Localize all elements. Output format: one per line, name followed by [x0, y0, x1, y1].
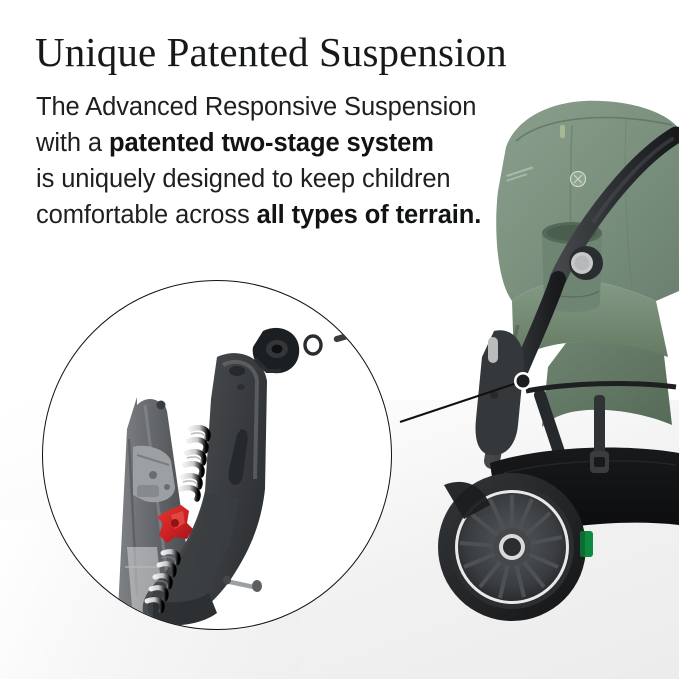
- arm-bolt: [223, 576, 262, 593]
- suspension-detail-inset: [42, 280, 392, 630]
- callout-dot: [517, 375, 530, 388]
- page-title: Unique Patented Suspension: [35, 28, 635, 77]
- washer-ring: [305, 336, 321, 354]
- brake-tab: [580, 531, 593, 557]
- body-line-3: is uniquely designed to keep children: [36, 161, 506, 197]
- body-line-4: comfortable across all types of terrain.: [36, 197, 506, 233]
- promo-graphic: Unique Patented Suspension The Advanced …: [0, 0, 679, 679]
- body-copy: The Advanced Responsive Suspension with …: [36, 89, 506, 233]
- upper-coil-spring: [181, 428, 208, 499]
- callout-line: [400, 382, 520, 422]
- pivot-bushing: [253, 328, 300, 373]
- callout-connector: [380, 360, 560, 440]
- body-line-2: with a patented two-stage system: [36, 125, 506, 161]
- canopy-snap-button: [571, 172, 586, 187]
- body-line-1: The Advanced Responsive Suspension: [36, 89, 506, 125]
- pivot-bolt: [333, 315, 379, 343]
- handlebar-hub-joint: [569, 246, 603, 280]
